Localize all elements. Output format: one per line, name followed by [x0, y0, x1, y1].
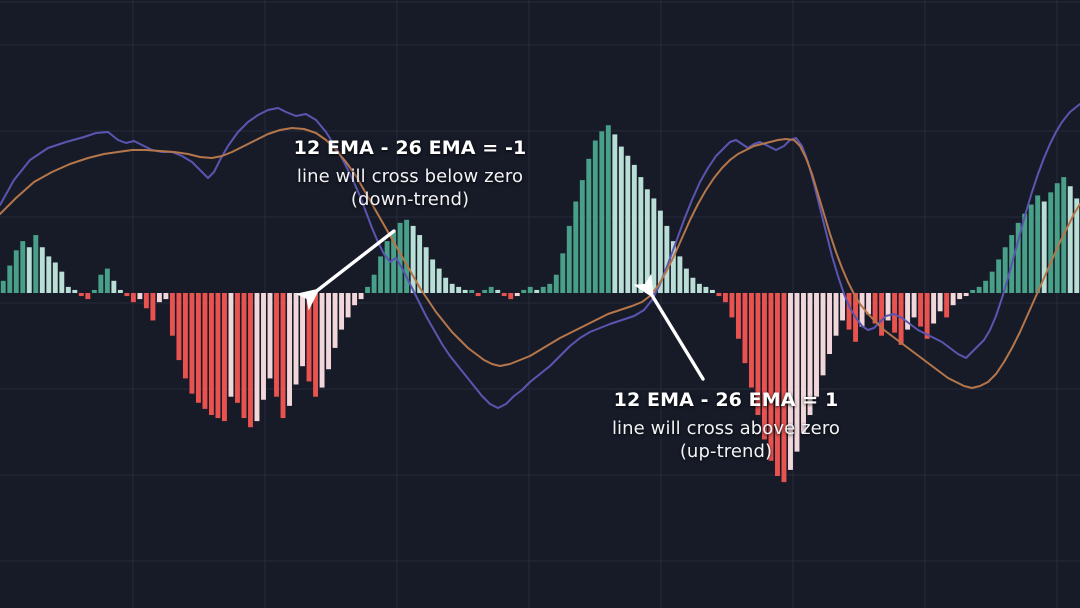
chart-background — [0, 0, 1080, 608]
histogram-bar — [7, 266, 12, 293]
histogram-bar — [788, 293, 793, 470]
histogram-bar — [352, 293, 357, 305]
histogram-bar — [98, 275, 103, 293]
histogram-bar — [651, 198, 656, 293]
histogram-bar — [808, 293, 813, 415]
histogram-bar — [14, 250, 19, 293]
histogram-bar — [554, 275, 559, 293]
histogram-bar — [560, 253, 565, 293]
histogram-bar — [528, 287, 533, 293]
histogram-bar — [782, 293, 787, 482]
histogram-bar — [274, 293, 279, 397]
macd-chart-container: 12 EMA - 26 EMA = -1 line will cross bel… — [0, 0, 1080, 608]
histogram-bar — [40, 247, 45, 293]
histogram-bar — [996, 259, 1001, 293]
histogram-bar — [723, 293, 728, 302]
histogram-bar — [261, 293, 266, 400]
histogram-bar — [593, 141, 598, 294]
histogram-bar — [847, 293, 852, 330]
histogram-bar — [365, 287, 370, 293]
histogram-bar — [697, 284, 702, 293]
histogram-bar — [411, 226, 416, 293]
histogram-bar — [756, 293, 761, 415]
histogram-bar — [1048, 192, 1053, 293]
histogram-bar — [216, 293, 221, 418]
histogram-bar — [736, 293, 741, 339]
histogram-bar — [912, 293, 917, 317]
histogram-bar — [183, 293, 188, 378]
histogram-bar — [346, 293, 351, 317]
histogram-bar — [918, 293, 923, 327]
histogram-bar — [443, 278, 448, 293]
histogram-bar — [268, 293, 273, 378]
histogram-bar — [567, 226, 572, 293]
histogram-bar — [385, 241, 390, 293]
histogram-bar — [255, 293, 260, 421]
histogram-bar — [547, 284, 552, 293]
histogram-bar — [105, 269, 110, 293]
histogram-bar — [222, 293, 227, 421]
histogram-bar — [430, 259, 435, 293]
histogram-bar — [53, 263, 58, 294]
histogram-bar — [645, 189, 650, 293]
histogram-bar — [378, 256, 383, 293]
histogram-bar — [983, 281, 988, 293]
histogram-bar — [85, 293, 90, 299]
macd-chart-svg — [0, 0, 1080, 608]
histogram-bar — [333, 293, 338, 348]
histogram-bar — [307, 293, 312, 381]
histogram-bar — [456, 287, 461, 293]
histogram-bar — [482, 290, 487, 293]
histogram-bar — [339, 293, 344, 330]
histogram-bar — [320, 293, 325, 388]
histogram-bar — [157, 293, 162, 302]
histogram-bar — [163, 293, 168, 299]
histogram-bar — [677, 256, 682, 293]
histogram-bar — [775, 293, 780, 476]
histogram-bar — [710, 290, 715, 293]
histogram-bar — [703, 287, 708, 293]
histogram-bar — [196, 293, 201, 403]
histogram-bar — [118, 290, 123, 293]
histogram-bar — [925, 293, 930, 339]
histogram-bar — [79, 293, 84, 296]
histogram-bar — [938, 293, 943, 311]
histogram-bar — [795, 293, 800, 452]
histogram-bar — [957, 293, 962, 299]
histogram-bar — [450, 284, 455, 293]
histogram-bar — [742, 293, 747, 363]
histogram-bar — [1029, 205, 1034, 293]
histogram-bar — [437, 269, 442, 293]
histogram-bar — [20, 241, 25, 293]
histogram-bar — [521, 290, 526, 293]
histogram-bar — [1035, 195, 1040, 293]
histogram-bar — [951, 293, 956, 305]
histogram-bar — [990, 272, 995, 293]
histogram-bar — [762, 293, 767, 439]
histogram-bar — [469, 290, 474, 293]
histogram-bar — [502, 293, 507, 296]
histogram-bar — [1, 281, 6, 293]
histogram-bar — [489, 287, 494, 293]
histogram-bar — [749, 293, 754, 388]
histogram-bar — [424, 247, 429, 293]
histogram-bar — [977, 287, 982, 293]
histogram-bar — [944, 293, 949, 317]
histogram-bar — [534, 290, 539, 293]
histogram-bar — [300, 293, 305, 366]
histogram-bar — [313, 293, 318, 397]
histogram-bar — [242, 293, 247, 418]
histogram-bar — [625, 156, 630, 293]
histogram-bar — [144, 293, 149, 308]
histogram-bar — [294, 293, 299, 385]
histogram-bar — [573, 202, 578, 294]
histogram-bar — [248, 293, 253, 427]
histogram-bar — [599, 131, 604, 293]
histogram-bar — [176, 293, 181, 360]
histogram-bar — [541, 287, 546, 293]
histogram-bar — [372, 275, 377, 293]
histogram-bar — [684, 269, 689, 293]
histogram-bar — [729, 293, 734, 317]
histogram-bar — [150, 293, 155, 320]
histogram-bar — [229, 293, 234, 397]
histogram-bar — [92, 290, 97, 293]
histogram-bar — [235, 293, 240, 403]
histogram-bar — [476, 293, 481, 296]
histogram-bar — [580, 180, 585, 293]
histogram-bar — [46, 256, 51, 293]
histogram-bar — [606, 125, 611, 293]
histogram-bar — [131, 293, 136, 302]
histogram-bar — [619, 147, 624, 293]
histogram-bar — [124, 293, 129, 296]
histogram-bar — [821, 293, 826, 375]
histogram-bar — [326, 293, 331, 369]
histogram-bar — [586, 159, 591, 293]
histogram-bar — [281, 293, 286, 418]
histogram-bar — [33, 235, 38, 293]
histogram-bar — [202, 293, 207, 409]
histogram-bar — [1055, 183, 1060, 293]
histogram-bar — [27, 247, 32, 293]
histogram-bar — [495, 290, 500, 293]
histogram-bar — [814, 293, 819, 397]
histogram-bar — [1068, 186, 1073, 293]
histogram-bar — [59, 272, 64, 293]
histogram-bar — [716, 293, 721, 296]
histogram-bar — [612, 134, 617, 293]
histogram-bar — [892, 293, 897, 333]
histogram-bar — [287, 293, 292, 406]
histogram-bar — [137, 293, 142, 299]
histogram-bar — [664, 226, 669, 293]
histogram-bar — [632, 165, 637, 293]
histogram-bar — [964, 293, 969, 296]
histogram-bar — [72, 290, 77, 293]
histogram-bar — [359, 293, 364, 299]
histogram-bar — [66, 287, 71, 293]
histogram-bar — [638, 177, 643, 293]
histogram-bar — [931, 293, 936, 324]
histogram-bar — [209, 293, 214, 415]
histogram-bar — [769, 293, 774, 461]
histogram-bar — [463, 290, 468, 293]
histogram-bar — [515, 293, 520, 296]
histogram-bar — [189, 293, 194, 394]
histogram-bar — [690, 278, 695, 293]
histogram-bar — [801, 293, 806, 433]
histogram-bar — [970, 290, 975, 293]
histogram-bar — [170, 293, 175, 336]
histogram-bar — [827, 293, 832, 354]
histogram-bar — [111, 281, 116, 293]
histogram-bar — [834, 293, 839, 336]
histogram-bar — [508, 293, 513, 299]
